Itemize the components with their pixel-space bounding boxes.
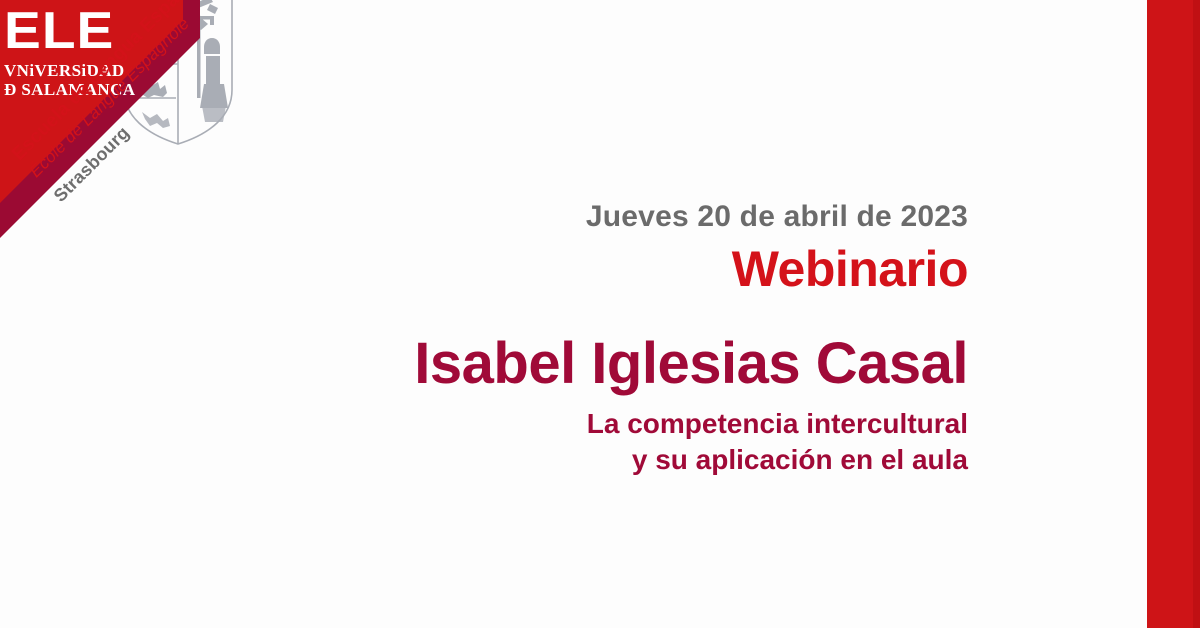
talk-title-line1: La competencia intercultural (240, 406, 968, 442)
poster-canvas: ELE VNiVERSiDAD Ð SALAMANCA Escuela de L… (0, 0, 1200, 628)
event-content: Jueves 20 de abril de 2023 Webinario Isa… (240, 198, 968, 478)
right-accent-stripe-edge (1193, 0, 1200, 628)
event-type: Webinario (240, 238, 968, 300)
right-accent-stripe (1147, 0, 1200, 628)
speaker-name: Isabel Iglesias Casal (240, 330, 968, 398)
event-date: Jueves 20 de abril de 2023 (240, 198, 968, 236)
talk-title-line2: y su aplicación en el aula (240, 442, 968, 478)
